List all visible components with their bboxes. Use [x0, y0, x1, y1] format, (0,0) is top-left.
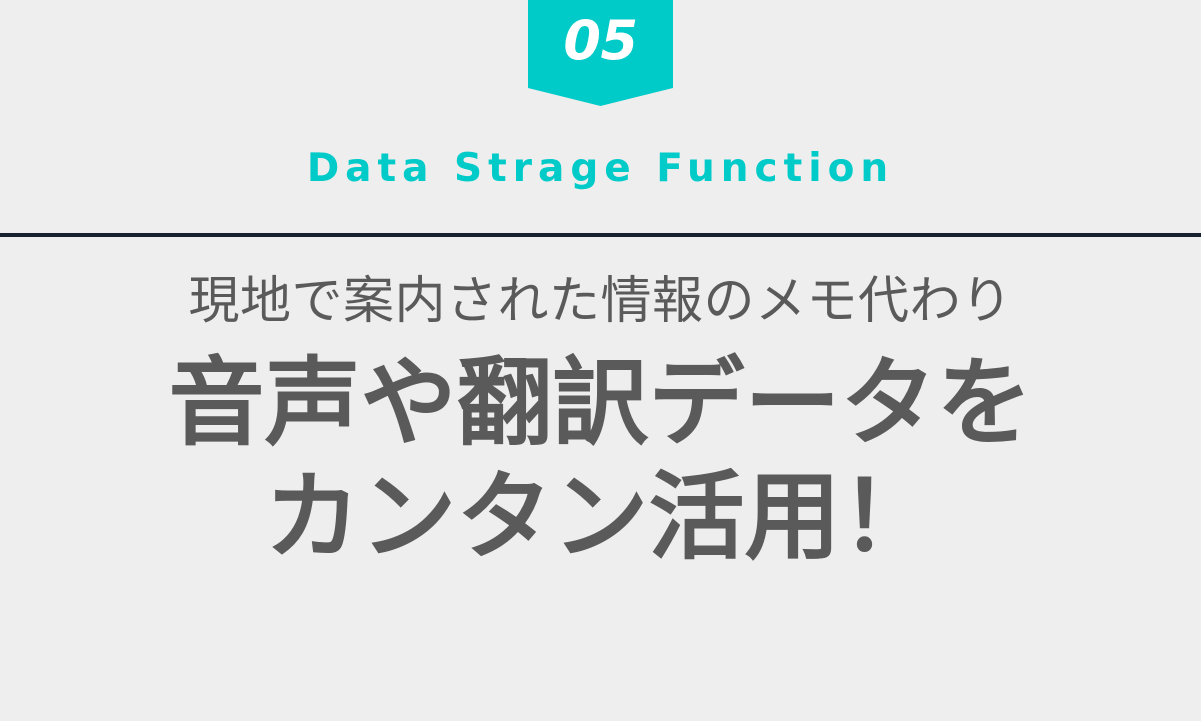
horizontal-rule	[0, 233, 1201, 237]
section-eyebrow-heading: Data Strage Function	[0, 146, 1201, 193]
copy-headline: 音声や翻訳データを カンタン活用！	[0, 347, 1201, 574]
copy-lead-line: 現地で案内された情報のメモ代わり	[0, 268, 1201, 333]
copy-headline-line-2: カンタン活用！	[0, 461, 1201, 574]
section-copy-block: 現地で案内された情報のメモ代わり 音声や翻訳データを カンタン活用！	[0, 268, 1201, 574]
copy-headline-line-1: 音声や翻訳データを	[0, 347, 1201, 460]
section-number-badge-wrapper: 05	[0, 0, 1201, 106]
slide-section: 05 Data Strage Function 現地で案内された情報のメモ代わり…	[0, 0, 1201, 721]
section-number-badge: 05	[528, 0, 673, 106]
section-number-label: 05	[563, 14, 637, 68]
